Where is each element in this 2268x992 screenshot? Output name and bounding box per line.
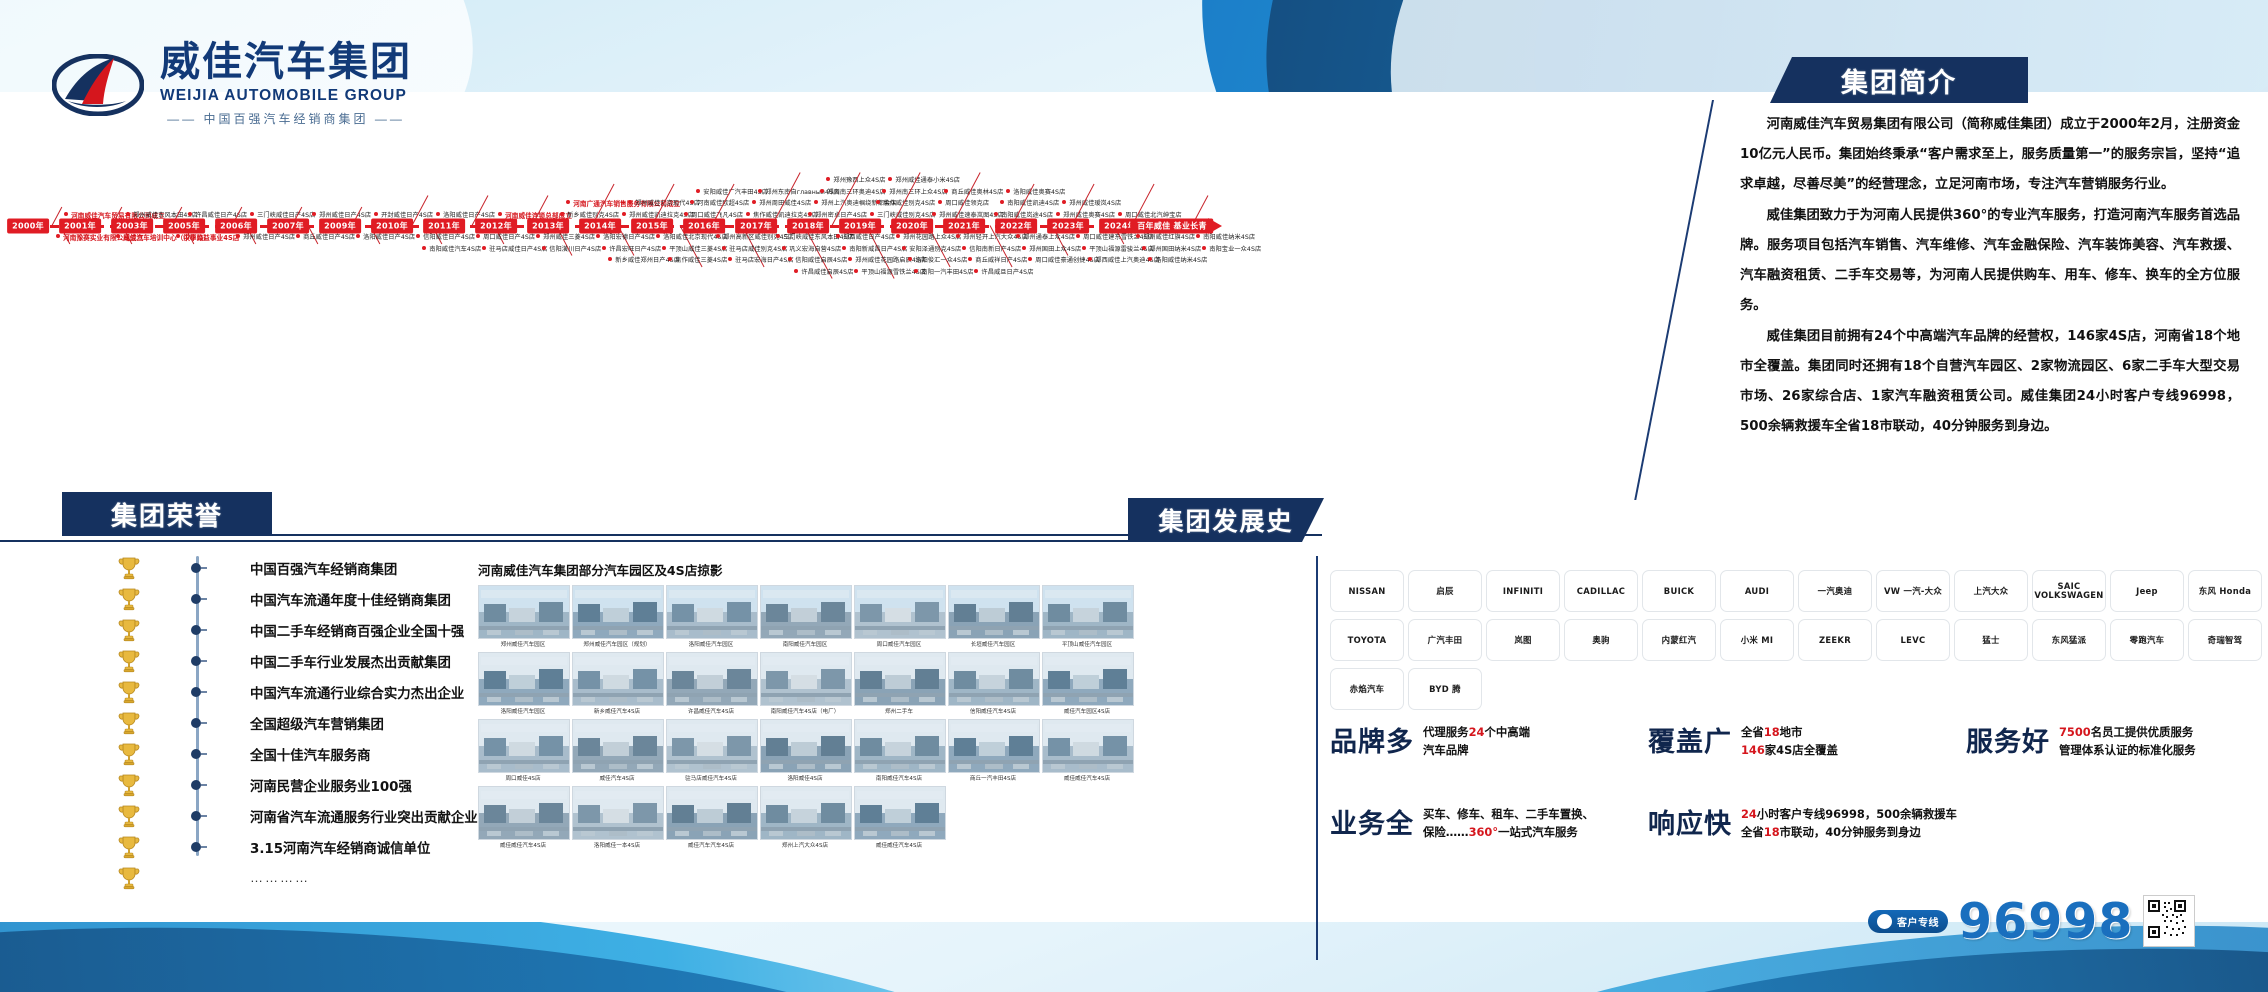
branch-node-icon xyxy=(752,200,756,204)
gallery-thumbnail[interactable] xyxy=(666,652,758,706)
gallery-thumbnail[interactable] xyxy=(760,786,852,840)
advantage-heading: 品牌多 xyxy=(1330,720,1414,759)
advantage-body: 全省18地市146家4S店全覆盖 xyxy=(1741,720,1838,760)
branch-label: 三门峡威佳别克4S店 xyxy=(877,210,935,219)
section-title-history: 集团发展史 xyxy=(1128,498,1324,542)
branch-label: 郑州威佳日产4S店 xyxy=(243,232,295,241)
gallery-thumbnail[interactable] xyxy=(666,786,758,840)
timeline-year-chip: 2006年 xyxy=(215,219,257,234)
timeline-year-chip: 2021年 xyxy=(943,219,985,234)
gallery-thumbnail[interactable] xyxy=(572,786,664,840)
branch-node-icon xyxy=(1062,200,1066,204)
gallery-item[interactable]: 郑州上汽大众4S店 xyxy=(760,786,850,849)
brand-logo-label: 岚图 xyxy=(1514,636,1531,645)
gallery-item[interactable]: 威佳汽车汽车4S店 xyxy=(666,786,756,849)
advantage-body: 7500名员工提供优质服务管理体系认证的标准化服务 xyxy=(2059,720,2196,760)
branch-node-icon xyxy=(482,246,486,250)
branch-node-icon xyxy=(968,257,972,261)
branch-node-icon xyxy=(560,212,564,216)
advantage-block: 服务好7500名员工提供优质服务管理体系认证的标准化服务 xyxy=(1966,720,2196,760)
branch-label: 商丘威祥日产4S店 xyxy=(975,255,1027,264)
brand-logo-label: 启辰 xyxy=(1436,587,1453,596)
brand-logo-cell[interactable]: 广汽丰田 xyxy=(1408,619,1482,661)
branch-label: 郑州花园路上众4S店 xyxy=(903,232,961,241)
branch-node-icon xyxy=(1082,246,1086,250)
hotline-badge: 客户专线 xyxy=(1868,910,1948,933)
branch-label: 洛阳威佳纳米4S店 xyxy=(1155,255,1207,264)
poster-canvas: 威佳汽车集团 WEIJIA AUTOMOBILE GROUP —— 中国百强汽车… xyxy=(0,0,2268,992)
advantage-highlight: 18 xyxy=(1764,825,1780,839)
branch-label: 许昌威佳启辰4S店 xyxy=(801,267,853,276)
branch-node-icon xyxy=(662,246,666,250)
advantage-body: 买车、修车、租车、二手车置换、保险……360°一站式汽车服务 xyxy=(1423,802,1594,842)
gallery-item[interactable]: 威佳威佳汽车4S店 xyxy=(478,786,568,849)
brand-logo-cell[interactable]: 赤焰汽车 xyxy=(1330,668,1404,710)
branch-label: 南阳威佳岚途4S店 xyxy=(1001,210,1053,219)
gallery-caption: 周口威佳汽车园区 xyxy=(854,640,944,648)
honor-item: 中国二手车经销商百强企业全国十强 xyxy=(118,614,448,645)
gallery-caption: 南阳威佳汽车园区 xyxy=(760,640,850,648)
branch-label: 信阳南新日产4S店 xyxy=(969,244,1021,253)
brand-logo-label: Jeep xyxy=(2136,587,2158,596)
section-title-honors-label: 集团荣誉 xyxy=(111,496,223,533)
brand-logo-cell[interactable]: CADILLAC xyxy=(1564,570,1638,612)
honor-bullet-icon xyxy=(190,686,205,697)
gallery-grid: 郑州威佳汽车园区郑州威佳汽车园区（规划）洛阳威佳汽车园区南阳威佳汽车园区周口威佳… xyxy=(478,585,1138,849)
gallery-item[interactable]: 威佳威佳汽车4S店 xyxy=(1042,719,1132,782)
gallery-item[interactable]: 威佳威佳汽车4S店 xyxy=(854,786,944,849)
gallery-item[interactable]: 周口威佳4S店 xyxy=(478,719,568,782)
gallery-thumbnail[interactable] xyxy=(948,585,1040,639)
branch-label: 郑西威佳日产4S店 xyxy=(843,232,895,241)
branch-label: 周口威佳领克店 xyxy=(945,198,989,207)
gallery-item[interactable]: 郑州威佳汽车园区（规划） xyxy=(572,585,662,648)
gallery-thumbnail[interactable] xyxy=(1042,652,1134,706)
gallery-thumbnail[interactable] xyxy=(854,719,946,773)
brand-logo-cell[interactable]: LEVC xyxy=(1876,619,1950,661)
brand-logo-cell[interactable]: 岚图 xyxy=(1486,619,1560,661)
branch-label: 三门峡威佳日产4S店 xyxy=(257,210,315,219)
gallery-item[interactable]: 许昌威佳汽车4S店 xyxy=(666,652,756,715)
honor-bullet-icon xyxy=(190,779,205,790)
gallery-caption: 长垣威佳汽车园区 xyxy=(948,640,1038,648)
timeline-year-chip: 2013年 xyxy=(527,219,569,234)
gallery-item[interactable]: 威佳汽车园区4S店 xyxy=(1042,652,1132,715)
branch-node-icon xyxy=(944,189,948,193)
gallery-caption: 威佳汽车4S店 xyxy=(572,774,662,782)
hotline-badge-label: 客户专线 xyxy=(1897,914,1939,929)
branch-label: 信阳潢川日产4S店 xyxy=(549,244,601,253)
advantage-line: 买车、修车、租车、二手车置换、 xyxy=(1423,805,1594,823)
brand-logo-label: 奇瑞智驾 xyxy=(2208,636,2243,645)
gallery-item[interactable]: 南阳威佳汽车4S店（电厂） xyxy=(760,652,850,715)
honor-item: 中国百强汽车经销商集团 xyxy=(118,552,448,583)
honor-bullet-icon xyxy=(190,593,205,604)
brand-logo-label: VW 一汽-大众 xyxy=(1884,587,1942,596)
gallery-thumbnail[interactable] xyxy=(478,786,570,840)
advantage-block: 响应快24小时客户专线96998，500余辆救援车全省18市联动，40分钟服务到… xyxy=(1648,802,1957,842)
gallery-item[interactable]: 洛阳威佳4S店 xyxy=(760,719,850,782)
gallery-thumbnail[interactable] xyxy=(760,585,852,639)
branch-node-icon xyxy=(938,200,942,204)
advantage-heading: 覆盖广 xyxy=(1648,720,1732,759)
brand-logo-cell[interactable]: 上汽大众 xyxy=(1954,570,2028,612)
gallery-thumbnail[interactable] xyxy=(760,652,852,706)
branch-label: 洛阳威佳奥赛4S店 xyxy=(1013,187,1065,196)
gallery-item[interactable]: 洛阳威佳汽车园区 xyxy=(666,585,756,648)
branch-node-icon xyxy=(656,234,660,238)
branch-node-icon xyxy=(1006,189,1010,193)
gallery-caption: 郑州威佳汽车园区（规划） xyxy=(572,640,662,648)
advantage-line: 汽车品牌 xyxy=(1423,741,1530,759)
trophy-icon xyxy=(118,618,140,642)
brand-logo-cell[interactable]: TOYOTA xyxy=(1330,619,1404,661)
intro-paragraph: 河南威佳汽车贸易集团有限公司（简称威佳集团）成立于2000年2月，注册资金10亿… xyxy=(1740,110,2240,199)
brand-logo-label: 零跑汽车 xyxy=(2130,636,2165,645)
brand-logo-cell[interactable]: ZEEKR xyxy=(1798,619,1872,661)
branch-label: 洛阳俊汇一众4S店 xyxy=(915,255,967,264)
timeline-year-chip: 2015年 xyxy=(631,219,673,234)
branch-node-icon xyxy=(758,189,762,193)
advantage-line: 保险……360°一站式汽车服务 xyxy=(1423,823,1594,841)
branch-label: 周口威佳日产4S店 xyxy=(483,232,535,241)
honor-bullet-icon xyxy=(190,810,205,821)
gallery-caption: 郑州上汽大众4S店 xyxy=(760,841,850,849)
gallery-item[interactable]: 驻马店威佳汽车4S店 xyxy=(666,719,756,782)
trophy-icon xyxy=(118,711,140,735)
brand-logo-cell[interactable]: BUICK xyxy=(1642,570,1716,612)
brand-logo-cell[interactable]: 零跑汽车 xyxy=(2110,619,2184,661)
brand-logo-cell[interactable]: 猛士 xyxy=(1954,619,2028,661)
branch-node-icon xyxy=(622,212,626,216)
brand-logo-cell[interactable]: 启辰 xyxy=(1408,570,1482,612)
advantage-line: 7500名员工提供优质服务 xyxy=(2059,723,2196,741)
timeline-year-chip: 2010年 xyxy=(371,219,413,234)
branch-label: 中华公益事业4S店 xyxy=(183,232,239,242)
branch-node-icon xyxy=(1022,246,1026,250)
brand-logo-cell[interactable]: 小米 MI xyxy=(1720,619,1794,661)
advantage-body: 代理服务24个中高端汽车品牌 xyxy=(1423,720,1530,760)
hotline-number: 96998 xyxy=(1958,897,2133,946)
branch-node-icon xyxy=(608,257,612,261)
timeline-year-chip: 2017年 xyxy=(735,219,777,234)
branch-node-icon xyxy=(826,177,830,181)
gallery-item[interactable]: 郑州二手车 xyxy=(854,652,944,715)
branch-label: 南阳一汽丰田4S店 xyxy=(921,267,973,276)
branch-label: 信阳威佳日产4S店 xyxy=(423,232,475,241)
advantage-heading: 响应快 xyxy=(1648,802,1732,841)
brand-logo-cell[interactable]: 奥驹 xyxy=(1564,619,1638,661)
branch-label: 洛阳威佳日产4S店 xyxy=(443,210,495,219)
brand-logo-cell[interactable]: NISSAN xyxy=(1330,570,1404,612)
brand-logo-label: CADILLAC xyxy=(1577,587,1625,596)
brand-logo-label: 奥驹 xyxy=(1592,636,1609,645)
gallery-item[interactable]: 新乡威佳汽车4S店 xyxy=(572,652,662,715)
branch-label: 信阳威佳启辰4S店 xyxy=(795,255,847,264)
trophy-icon xyxy=(118,835,140,859)
intro-body-text: 河南威佳汽车贸易集团有限公司（简称威佳集团）成立于2000年2月，注册资金10亿… xyxy=(1740,110,2240,444)
brand-logo-label: BYD 腾 xyxy=(1429,685,1461,694)
branch-node-icon xyxy=(848,257,852,261)
intro-paragraph: 威佳集团目前拥有24个中高端汽车品牌的经营权，146家4S店，河南省18个地市全… xyxy=(1740,322,2240,441)
advantage-highlight: 24 xyxy=(1469,725,1485,739)
gallery-item[interactable]: 洛阳威佳一本4S店 xyxy=(572,786,662,849)
gallery-thumbnail[interactable] xyxy=(760,719,852,773)
branch-node-icon xyxy=(476,234,480,238)
brand-logo-cell[interactable]: 东风 Honda xyxy=(2188,570,2262,612)
gallery-caption: 威佳汽车汽车4S店 xyxy=(666,841,756,849)
branch-node-icon xyxy=(250,212,254,216)
branch-node-icon xyxy=(602,246,606,250)
timeline-year-chip: 2000年 xyxy=(7,219,49,234)
gallery-thumbnail[interactable] xyxy=(854,652,946,706)
honor-item: 全国十佳汽车服务商 xyxy=(118,738,448,769)
brand-logo-label: LEVC xyxy=(1901,636,1926,645)
brand-logo-label: 东风猛派 xyxy=(2052,636,2087,645)
advantage-highlight: 18 xyxy=(1764,725,1780,739)
timeline-year-chip: 2023年 xyxy=(1047,219,1089,234)
branch-node-icon xyxy=(1118,212,1122,216)
branch-node-icon xyxy=(56,234,60,238)
gallery-caption: 郑州二手车 xyxy=(854,707,944,715)
branch-label: 郑州威佳通泰小米4S店 xyxy=(895,175,960,184)
gallery-thumbnail[interactable] xyxy=(1042,719,1134,773)
timeline-year-chip: 2007年 xyxy=(267,219,309,234)
branch-node-icon xyxy=(356,234,360,238)
branch-label: 郑州威佳奥赛4S店 xyxy=(1063,210,1115,219)
gallery-caption: 南阳威佳汽车4S店 xyxy=(854,774,944,782)
branch-label: 南阳宝业一众4S店 xyxy=(1209,244,1261,253)
brand-logo-cell[interactable]: 一汽奥迪 xyxy=(1798,570,1872,612)
gallery-thumbnail[interactable] xyxy=(478,585,570,639)
brand-logo-cell[interactable]: 内蒙红汽 xyxy=(1642,619,1716,661)
timeline-year-chip: 2022年 xyxy=(995,219,1037,234)
brand-logo-label: TOYOTA xyxy=(1348,636,1387,645)
trophy-icon xyxy=(118,742,140,766)
advantage-block: 品牌多代理服务24个中高端汽车品牌 xyxy=(1330,720,1530,760)
advantage-line: 全省18市联动，40分钟服务到身边 xyxy=(1741,823,1957,841)
advantage-highlight: 146 xyxy=(1741,743,1765,757)
gallery-thumbnail[interactable] xyxy=(948,719,1040,773)
branch-node-icon xyxy=(794,269,798,273)
trophy-icon xyxy=(118,866,140,890)
gallery-caption: 平顶山威佳汽车园区 xyxy=(1042,640,1132,648)
gallery-item[interactable]: 周口威佳汽车园区 xyxy=(854,585,944,648)
honor-label: 河南省汽车流通服务行业突出贡献企业 xyxy=(250,806,478,826)
branch-node-icon xyxy=(1196,234,1200,238)
intro-paragraph: 威佳集团致力于为河南人民提供360°的专业汽车服务，打造河南汽车服务首选品牌。服… xyxy=(1740,201,2240,320)
brand-logo-cell[interactable]: 东风猛派 xyxy=(2032,619,2106,661)
gallery-thumbnail[interactable] xyxy=(666,719,758,773)
branch-node-icon xyxy=(974,269,978,273)
branch-node-icon xyxy=(1076,234,1080,238)
branch-label: 安阳泽通别克4S店 xyxy=(909,244,961,253)
timeline-year-chip: 2016年 xyxy=(683,219,725,234)
gallery-caption: 洛阳威佳4S店 xyxy=(760,774,850,782)
gallery-caption: 洛阳威佳一本4S店 xyxy=(572,841,662,849)
brand-logo-cell[interactable]: 奇瑞智驾 xyxy=(2188,619,2262,661)
honor-label: 中国百强汽车经销商集团 xyxy=(250,558,397,578)
gallery-thumbnail[interactable] xyxy=(572,719,664,773)
advantage-heading: 业务全 xyxy=(1330,802,1414,841)
brand-logo-label: NISSAN xyxy=(1348,587,1385,596)
honor-label: 中国汽车流通年度十佳经销商集团 xyxy=(250,589,451,609)
branch-label: 郑州密卓日产4S店 xyxy=(815,210,867,219)
gallery-item[interactable]: 南阳威佳汽车4S店 xyxy=(854,719,944,782)
brand-logo-label: ZEEKR xyxy=(1819,636,1851,645)
gallery-thumbnail[interactable] xyxy=(572,585,664,639)
advantages-area: 品牌多代理服务24个中高端汽车品牌覆盖广全省18地市146家4S店全覆盖服务好7… xyxy=(1330,720,2260,900)
branch-label: 郑州豫西上众4S店 xyxy=(833,175,885,184)
branch-label: 洛阳宏德日产4S店 xyxy=(603,232,655,241)
branch-label: 驻马店宏海日产4S店 xyxy=(735,255,793,264)
brand-logo-cell[interactable]: VW 一汽-大众 xyxy=(1876,570,1950,612)
gallery-item[interactable]: 郑州威佳汽车园区 xyxy=(478,585,568,648)
honor-label: 河南民营企业服务业100强 xyxy=(250,775,412,795)
honor-item: 3.15河南汽车经销商诚信单位 xyxy=(118,831,448,862)
advantage-line: 全省18地市 xyxy=(1741,723,1838,741)
branch-label: 周口威佳北汽绅宝店 xyxy=(1125,210,1182,219)
timeline-year-chip: 2001年 xyxy=(59,219,101,234)
branch-node-icon xyxy=(374,212,378,216)
honor-bullet-icon xyxy=(190,717,205,728)
brand-logo-label: 小米 MI xyxy=(1741,636,1774,645)
branch-node-icon xyxy=(962,246,966,250)
branch-node-icon xyxy=(746,212,750,216)
gallery-item[interactable]: 平顶山威佳汽车园区 xyxy=(1042,585,1132,648)
gallery-thumbnail[interactable] xyxy=(572,652,664,706)
branch-node-icon xyxy=(814,200,818,204)
timeline-year-chip: 2012年 xyxy=(475,219,517,234)
branch-label: 巩义宏海自营4S店 xyxy=(789,244,841,253)
gallery-caption: 新乡威佳汽车4S店 xyxy=(572,707,662,715)
headset-icon xyxy=(1877,914,1892,929)
brand-logo-cell[interactable]: AUDI xyxy=(1720,570,1794,612)
gallery-caption: 威佳汽车园区4S店 xyxy=(1042,707,1132,715)
honor-bullet-icon xyxy=(190,748,205,759)
timeline-year-chip: 2003年 xyxy=(111,219,153,234)
branch-node-icon xyxy=(536,234,540,238)
gallery-thumbnail[interactable] xyxy=(478,719,570,773)
gallery-thumbnail[interactable] xyxy=(854,585,946,639)
branch-label: 平顶山威佳三菱4S店 xyxy=(669,244,727,253)
trophy-icon xyxy=(118,680,140,704)
honor-label: 全国十佳汽车服务商 xyxy=(250,744,371,764)
gallery-caption: 周口威佳4S店 xyxy=(478,774,568,782)
honor-item: 全国超级汽车营销集团 xyxy=(118,707,448,738)
branch-node-icon xyxy=(896,234,900,238)
branch-label: 郑州国田上众4S店 xyxy=(1029,244,1081,253)
honor-label: 中国二手车行业发展杰出贡献集团 xyxy=(250,651,451,671)
branch-label: 南阳新威昌日产4S店 xyxy=(849,244,907,253)
brands-divider xyxy=(1316,556,1318,960)
brand-logo-cell[interactable]: Jeep xyxy=(2110,570,2184,612)
gallery-item[interactable]: 信阳威佳汽车4S店 xyxy=(948,652,1038,715)
branch-node-icon xyxy=(126,212,130,216)
branch-label: 郑州威佳瑷岚4S店 xyxy=(1069,198,1121,207)
honor-label: 全国超级汽车营销集团 xyxy=(250,713,384,733)
branch-label: 郑州威佳日产4S店 xyxy=(319,210,371,219)
branch-node-icon xyxy=(1056,212,1060,216)
trophy-icon xyxy=(118,556,140,580)
gallery-caption: 许昌威佳汽车4S店 xyxy=(666,707,756,715)
honor-label: 中国汽车流通行业综合实力杰出企业 xyxy=(250,682,464,702)
timeline-year-chip: 2011年 xyxy=(423,219,465,234)
brand-logo-cell[interactable]: BYD 腾 xyxy=(1408,668,1482,710)
gallery-item[interactable]: 长垣威佳汽车园区 xyxy=(948,585,1038,648)
branch-node-icon xyxy=(1202,246,1206,250)
branch-label: 开封威佳日产4S店 xyxy=(381,210,433,219)
branch-node-icon xyxy=(994,212,998,216)
honor-item: 中国二手车行业发展杰出贡献集团 xyxy=(118,645,448,676)
gallery-thumbnail[interactable] xyxy=(478,652,570,706)
branch-label: 郑州威佳三菱4S店 xyxy=(543,232,595,241)
timeline-year-chip: 2019年 xyxy=(839,219,881,234)
timeline-year-chip: 2018年 xyxy=(787,219,829,234)
gallery-item[interactable]: 南阳威佳汽车园区 xyxy=(760,585,850,648)
brand-logo-label: INFINITI xyxy=(1503,587,1543,596)
timeline-year-chip: 2005年 xyxy=(163,219,205,234)
honor-bullet-icon xyxy=(190,562,205,573)
advantage-line: 24小时客户专线96998，500余辆救援车 xyxy=(1741,805,1957,823)
gallery-item[interactable]: 商丘一汽丰田4S店 xyxy=(948,719,1038,782)
branch-node-icon xyxy=(296,234,300,238)
gallery-thumbnail[interactable] xyxy=(854,786,946,840)
honor-item: 中国汽车流通行业综合实力杰出企业 xyxy=(118,676,448,707)
brand-logo-label: SAIC VOLKSWAGEN xyxy=(2033,582,2105,600)
photo-gallery: 河南威佳汽车集团部分汽车园区及4S店掠影 郑州威佳汽车园区郑州威佳汽车园区（规划… xyxy=(478,560,1138,849)
branch-label: 焦作威佳三菱4S店 xyxy=(675,255,727,264)
gallery-caption: 洛阳威佳汽车园区 xyxy=(666,640,756,648)
branch-node-icon xyxy=(820,189,824,193)
honor-label: 3.15河南汽车经销商诚信单位 xyxy=(250,837,430,857)
timeline-final-chip: 百年威佳 基业长青 xyxy=(1130,219,1213,234)
honor-bullet-icon xyxy=(190,624,205,635)
brand-logo-label: 东风 Honda xyxy=(2199,587,2251,596)
branch-node-icon xyxy=(882,189,886,193)
branch-node-icon xyxy=(436,212,440,216)
qr-code xyxy=(2143,895,2195,947)
logo-name-cn: 威佳汽车集团 xyxy=(160,42,412,82)
branch-label: 洛阳威佳日产4S店 xyxy=(363,232,415,241)
branch-label: 郑州威佳红旗4S店 xyxy=(1143,232,1195,241)
advantage-line: 管理体系认证的标准化服务 xyxy=(2059,741,2196,759)
gallery-item[interactable]: 威佳汽车4S店 xyxy=(572,719,662,782)
gallery-thumbnail[interactable] xyxy=(666,585,758,639)
branch-node-icon xyxy=(64,212,68,216)
trophy-icon xyxy=(118,649,140,673)
gallery-caption: 郑州威佳汽车园区 xyxy=(478,640,568,648)
gallery-caption: 洛阳威佳汽车园区 xyxy=(478,707,568,715)
brand-logo-label: 上汽大众 xyxy=(1974,587,2009,596)
logo-tagline: —— 中国百强汽车经销商集团 —— xyxy=(160,110,412,127)
brand-logo-cell[interactable]: INFINITI xyxy=(1486,570,1560,612)
branch-node-icon xyxy=(416,234,420,238)
branch-label: 南阳威佳纳米4S店 xyxy=(1203,232,1255,241)
branch-node-icon xyxy=(854,269,858,273)
section-title-intro-label: 集团简介 xyxy=(1841,61,1957,100)
advantage-line: 146家4S店全覆盖 xyxy=(1741,741,1838,759)
gallery-item[interactable]: 洛阳威佳汽车园区 xyxy=(478,652,568,715)
gallery-thumbnail[interactable] xyxy=(948,652,1040,706)
logo-name-en: WEIJIA AUTOMOBILE GROUP xyxy=(160,87,412,105)
brand-logo-cell[interactable]: SAIC VOLKSWAGEN xyxy=(2032,570,2106,612)
branch-label: 驻马店威佳日产4S店 xyxy=(489,244,547,253)
branch-node-icon xyxy=(422,246,426,250)
gallery-thumbnail[interactable] xyxy=(1042,585,1134,639)
honor-item: 河南民营企业服务业100强 xyxy=(118,769,448,800)
branch-node-icon xyxy=(566,200,570,204)
